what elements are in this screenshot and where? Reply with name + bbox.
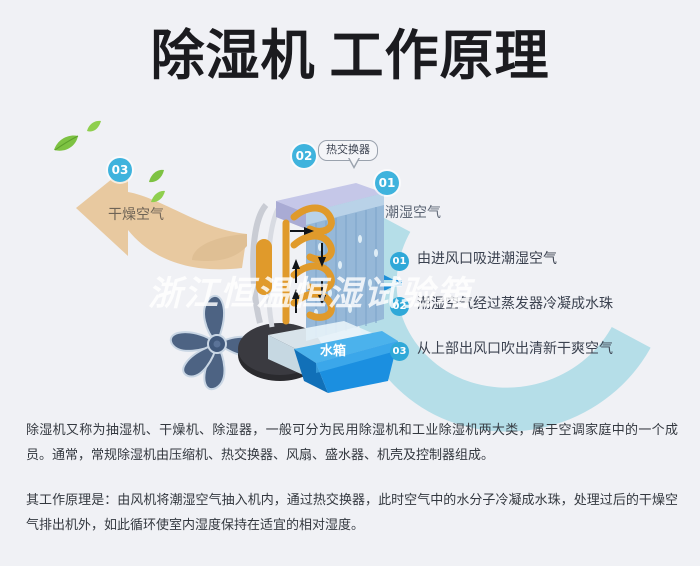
humid-air-label: 潮湿空气 — [385, 202, 441, 222]
paragraph-spacer — [26, 476, 678, 488]
diagram-badge-03: 03 — [108, 158, 132, 182]
leaf-icon — [52, 134, 80, 154]
diagram-badge-02: 02 — [292, 144, 316, 168]
title-part-2: 工作原理 — [330, 24, 550, 87]
step-list: 01 由进风口吸进潮湿空气 02 潮湿空气经过蒸发器冷凝成水珠 03 从上部出风… — [390, 250, 690, 385]
diagram-badge-01: 01 — [375, 171, 399, 195]
infographic-page: 除湿机工作原理 — [0, 0, 700, 566]
water-tank-label: 水箱 — [320, 340, 346, 359]
step-text-01: 由进风口吸进潮湿空气 — [417, 250, 557, 269]
heat-exchanger-callout-label: 热交换器 — [326, 143, 370, 156]
list-item: 02 潮湿空气经过蒸发器冷凝成水珠 — [390, 295, 690, 316]
title-part-1: 除湿机 — [151, 24, 316, 87]
step-text-02: 潮湿空气经过蒸发器冷凝成水珠 — [417, 295, 613, 314]
body-paragraph-1: 除湿机又称为抽湿机、干燥机、除湿器，一般可分为民用除湿机和工业除湿机两大类，属于… — [26, 418, 678, 468]
body-copy: 除湿机又称为抽湿机、干燥机、除湿器，一般可分为民用除湿机和工业除湿机两大类，属于… — [26, 418, 678, 546]
leaf-icon — [148, 168, 166, 184]
step-text-03: 从上部出风口吹出清新干爽空气 — [417, 340, 613, 359]
list-item: 01 由进风口吸进潮湿空气 — [390, 250, 690, 271]
leaf-icon — [86, 120, 102, 134]
page-title: 除湿机工作原理 — [0, 25, 700, 87]
step-badge-03: 03 — [390, 342, 409, 361]
callout-tail-icon — [348, 158, 360, 169]
leaf-icon — [150, 190, 166, 204]
body-paragraph-2: 其工作原理是：由风机将潮湿空气抽入机内，通过热交换器，此时空气中的水分子冷凝成水… — [26, 488, 678, 538]
dry-air-label: 干燥空气 — [108, 204, 164, 224]
step-badge-02: 02 — [390, 297, 409, 316]
swoosh-fade-mask — [520, 118, 610, 228]
step-badge-01: 01 — [390, 252, 409, 271]
list-item: 03 从上部出风口吹出清新干爽空气 — [390, 340, 690, 361]
